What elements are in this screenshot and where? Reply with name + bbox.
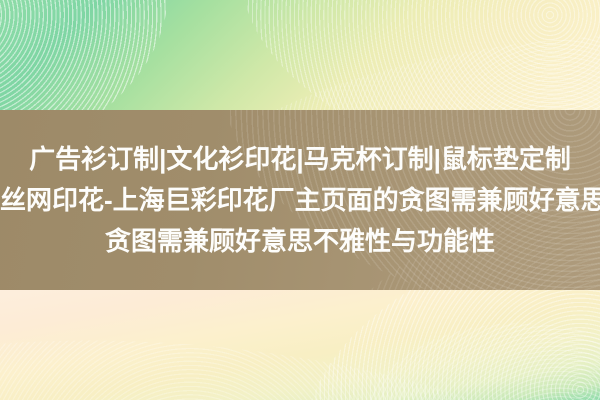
caption-line-3: 贪图需兼顾好意思不雅性与功能性: [105, 222, 495, 260]
caption-text-block: 广告衫订制|文化衫印花|马克杯订制|鼠标垫定制 丝网印花-上海巨彩印花厂主页面的…: [0, 110, 600, 290]
caption-band: 广告衫订制|文化衫印花|马克杯订制|鼠标垫定制 丝网印花-上海巨彩印花厂主页面的…: [0, 110, 600, 290]
decorative-bottom-banner: [0, 290, 600, 400]
caption-line-2: 丝网印花-上海巨彩印花厂主页面的贪图需兼顾好意思不: [0, 181, 600, 219]
caption-line-1: 广告衫订制|文化衫印花|马克杯订制|鼠标垫定制: [29, 140, 571, 178]
decorative-top-banner: [0, 0, 600, 110]
banner-image: 广告衫订制|文化衫印花|马克杯订制|鼠标垫定制 丝网印花-上海巨彩印花厂主页面的…: [0, 0, 600, 400]
arc-lines-icon: [0, 0, 197, 110]
